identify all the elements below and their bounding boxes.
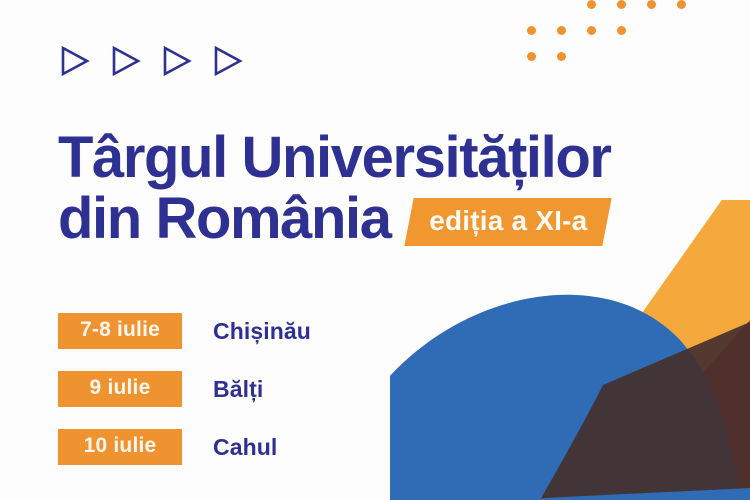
- play-triangle-icon: [159, 44, 193, 78]
- blue-wing-front: [510, 488, 750, 500]
- edition-badge-label: ediția a XI-a: [429, 205, 587, 237]
- grid-dot: [557, 26, 566, 35]
- schedule-city-label: Cahul: [213, 434, 277, 461]
- schedule-date-chip: 10 iulie: [58, 429, 182, 465]
- schedule-date-chip: 9 iulie: [58, 371, 182, 407]
- play-triangle-icon: [210, 44, 244, 78]
- edition-badge: ediția a XI-a: [404, 198, 612, 246]
- schedule-city-label: Chișinău: [213, 318, 311, 345]
- schedule-row: 9 iulie Bălți: [58, 371, 311, 407]
- play-triangle-icon: [108, 44, 142, 78]
- title-line-2: din România: [58, 189, 391, 248]
- maroon-overlap: [540, 322, 750, 500]
- schedule-row: 10 iulie Cahul: [58, 429, 311, 465]
- schedule-city-label: Bălți: [213, 376, 263, 403]
- grid-dot: [587, 0, 596, 9]
- grid-dot: [527, 26, 536, 35]
- dot-grid-decoration: [527, 0, 750, 64]
- headline-block: Târgul Universităților din România ediți…: [58, 128, 718, 248]
- play-triangle-icon: [57, 44, 91, 78]
- arrow-decoration-row: [57, 44, 244, 78]
- grid-dot: [587, 26, 596, 35]
- grid-dot: [557, 52, 566, 61]
- red-wedge: [590, 320, 750, 500]
- grid-dot: [617, 26, 626, 35]
- title-line-1: Târgul Universităților: [58, 128, 718, 187]
- schedule-date-chip: 7-8 iulie: [58, 313, 182, 349]
- grid-dot: [677, 0, 686, 9]
- schedule-list: 7-8 iulie Chișinău 9 iulie Bălți 10 iuli…: [58, 313, 311, 465]
- title-line-2-row: din România ediția a XI-a: [58, 189, 718, 248]
- blue-wing: [390, 295, 740, 500]
- poster-canvas: Târgul Universităților din România ediți…: [0, 0, 750, 500]
- grid-dot: [617, 0, 626, 9]
- schedule-row: 7-8 iulie Chișinău: [58, 313, 311, 349]
- grid-dot: [527, 52, 536, 61]
- grid-dot: [647, 0, 656, 9]
